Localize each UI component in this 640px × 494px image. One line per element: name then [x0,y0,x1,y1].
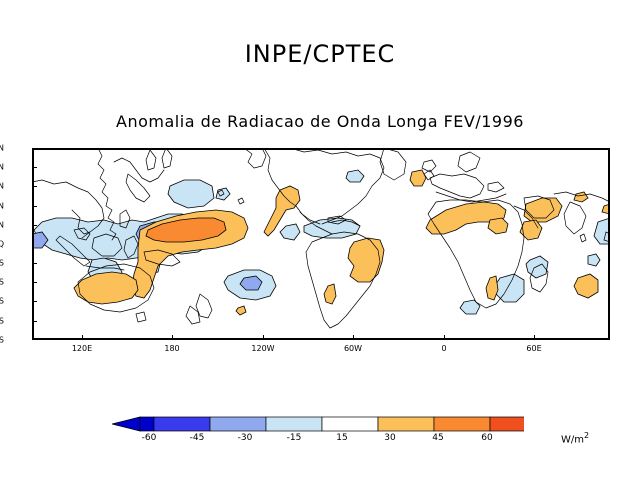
anomaly-horn-of-africa-positive [524,198,562,222]
anomaly-argentina-positive [324,284,336,304]
coastline-sakhalin [146,150,156,170]
coastline-europe [430,174,484,198]
coastline-iceland [422,160,436,172]
x-axis-label-60w: 60W [344,344,362,353]
chart-subtitle: Anomalia de Radiacao de Onda Longa FEV/1… [0,112,640,131]
y-axis-label-50n: 50N [0,144,4,153]
x-axis-tick [82,335,83,340]
anomaly-namibia-positive [486,276,498,300]
colorbar-tick-minus45: -45 [190,433,205,443]
anomaly-east-africa-positive [520,220,542,240]
colorbar-bin-60-45 [154,417,210,431]
anomaly-madagascar-positive [574,274,598,298]
colorbar-bin-below-60 [140,417,154,431]
coastline-alaska [244,148,266,168]
x-axis-tick [444,335,445,340]
units-base: W/m [561,434,584,445]
colorbar-tick-minus15: -15 [287,433,302,443]
anomaly-southern-africa-negative [526,256,548,278]
x-axis-label-0: 0 [441,344,446,353]
colorbar-tick-30: 30 [384,433,395,443]
x-axis-label-120w: 120W [251,344,274,353]
coastline-na-east [322,158,384,224]
anomaly-west-pacific-small-negative [216,188,230,200]
colorbar-bin-neutral [322,417,378,431]
page-title: INPE/CPTEC [0,40,640,68]
coastline-north-america-west [264,148,320,224]
anomaly-north-pacific-negative [168,180,214,208]
y-axis-label-40n: 40N [0,163,4,172]
colorbar-swatches [112,414,524,434]
anomaly-south-atlantic-negative [460,300,480,314]
x-axis-label-60e: 60E [526,344,541,353]
anomaly-tropical-atlantic-positive [348,238,384,282]
y-axis-label-40s: 40S [0,317,4,326]
olr-anomaly-map [32,148,610,340]
x-axis-label-180: 180 [164,344,179,353]
colorbar-bin-30-15 [266,417,322,431]
y-axis-label-30n: 30N [0,182,4,191]
anomaly-east-indian-negative [594,218,610,244]
colorbar-extend-low-arrow [112,417,140,431]
coastline-india [564,202,586,234]
colorbar-tick-60: 60 [481,433,492,443]
colorbar-units: W/m2 [561,431,589,445]
colorbar-bin-45-30 [210,417,266,431]
y-axis-label-20n: 20N [0,202,4,211]
y-axis-label-eq: EQ [0,240,4,249]
colorbar [112,414,524,434]
y-axis-label-50s: 50S [0,336,4,345]
figure-page: INPE/CPTEC Anomalia de Radiacao de Onda … [0,0,640,494]
coastline-korea-japan [114,158,164,182]
coastline-japan-main [126,174,150,202]
y-axis-label-10s: 10S [0,259,4,268]
x-axis-tick [263,335,264,340]
colorbar-tick-minus30: -30 [238,433,253,443]
colorbar-bin-45-60 [490,417,524,431]
units-exponent: 2 [584,431,589,440]
coastline-sri-lanka [580,234,586,242]
map-plot-area [32,148,610,340]
anomaly-australia-positive [74,272,138,304]
y-axis-label-10n: 10N [0,221,4,230]
colorbar-tick-15: 15 [336,433,347,443]
coastline-scandinavia [458,152,480,172]
anomaly-north-atlantic-negative [346,170,364,182]
coastline-tasmania [136,312,146,322]
coastline-black-sea [488,182,504,192]
coastline-greenland [380,148,406,180]
anomaly-nigeria-positive [488,218,508,234]
colorbar-bin-30-45 [434,417,490,431]
x-axis-tick [172,335,173,340]
anomaly-south-pacific-tiny-positive [236,306,246,315]
anomaly-south-africa-negative [496,274,524,302]
x-axis-tick [534,335,535,340]
x-axis-tick [353,335,354,340]
anomaly-indian-ocean-small-negative [588,254,600,266]
coastline-kamchatka [162,148,172,168]
coastline-hawaii [238,198,244,204]
anomaly-mid-atlantic-positive [410,170,426,186]
colorbar-tick-minus60: -60 [142,433,157,443]
y-axis-label-30s: 30S [0,297,4,306]
anomaly-arabia-positive [574,192,588,202]
colorbar-tick-45: 45 [432,433,443,443]
coastline-nz-south [186,306,200,324]
y-axis-label-20s: 20S [0,278,4,287]
anomaly-colombia-negative [280,224,300,240]
x-axis-label-120e: 120E [72,344,92,353]
colorbar-bin-15-30 [378,417,434,431]
